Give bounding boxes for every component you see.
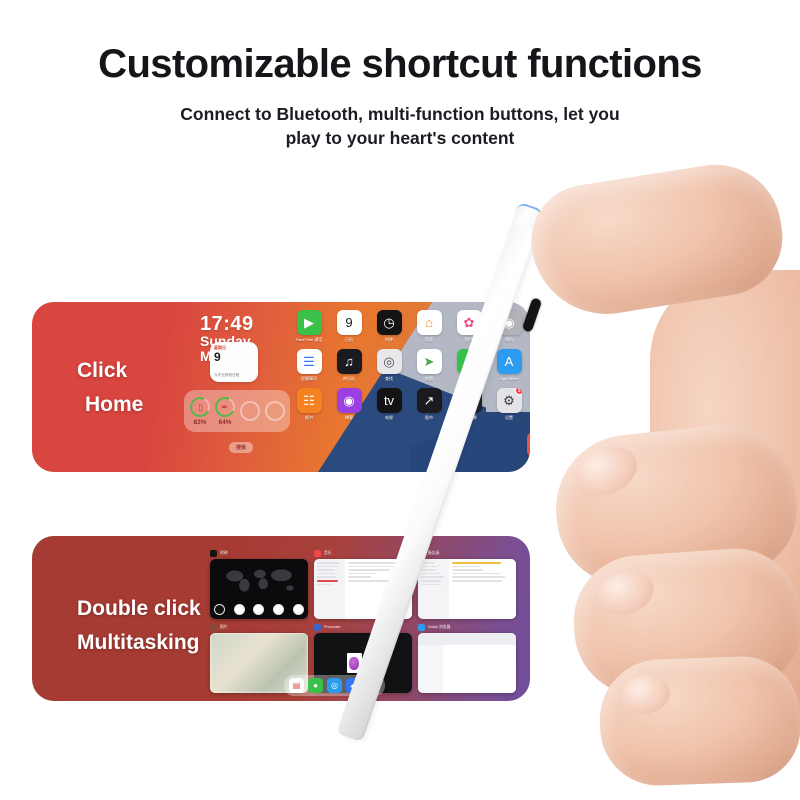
ipad-battery-percent: 83%	[190, 419, 210, 426]
app-icon-reminders[interactable]: ☰提醒事项	[290, 349, 328, 382]
calendar-icon: 9	[337, 310, 362, 335]
app-icon-clock[interactable]: ◷时钟	[370, 310, 408, 343]
dock-calendar-icon[interactable]: ▤	[289, 678, 304, 693]
empty-slot-2-ring-icon	[265, 401, 285, 421]
panel-one-label-line-1: Click	[77, 354, 143, 388]
app-icon-garageband[interactable]: ♫库乐队	[330, 349, 368, 382]
app-icon-books[interactable]: ☷图书	[290, 388, 328, 421]
calendar-label: 日历	[345, 337, 353, 343]
home-label: 家庭	[425, 337, 433, 343]
card-photos-title: 照片	[220, 625, 228, 630]
podcasts-label: 播客	[345, 415, 353, 421]
stocks-icon: ↗	[417, 388, 442, 413]
panel-two-label-line-1: Double click	[77, 592, 201, 626]
panel-two-label-line-2: Multitasking	[77, 626, 201, 660]
maps-label: 地图	[425, 376, 433, 382]
card-world-clock[interactable]: 时钟	[210, 550, 308, 619]
card-notes-title: 备忘录	[428, 551, 439, 556]
calendar-day: 9	[214, 351, 254, 363]
card-procreate-app-icon	[314, 624, 321, 631]
card-photos-header: 照片	[210, 624, 308, 631]
panel-one-label: Click Home	[77, 354, 143, 422]
card-music-title: 音乐	[324, 551, 332, 556]
apple-tv-icon: tv	[377, 388, 402, 413]
reminders-label: 提醒事项	[301, 376, 317, 382]
battery-cell-pencil-battery: ✒64%	[215, 397, 235, 426]
world-clock-preview	[210, 559, 308, 619]
apple-tv-label: 电视	[385, 415, 393, 421]
calendar-note: 今天无其他日程	[214, 373, 254, 378]
empty-slot-1-ring-icon	[240, 401, 260, 421]
app-icon-apple-tv[interactable]: tv电视	[370, 388, 408, 421]
facetime-label: FaceTime 通话	[296, 337, 323, 343]
dock-messages-icon[interactable]: ●	[308, 678, 323, 693]
calendar-widget[interactable]: 星期日 9 今天无其他日程	[210, 342, 258, 382]
pinky-finger	[598, 655, 800, 788]
app-icon-calendar[interactable]: 9日历	[330, 310, 368, 343]
ipad-battery-ring-icon: ▯	[187, 394, 212, 419]
podcasts-icon: ◉	[337, 388, 362, 413]
app-icon-maps[interactable]: ➤地图	[410, 349, 448, 382]
usb-c-port-icon	[522, 297, 543, 332]
app-icon-facetime[interactable]: ▶FaceTime 通话	[290, 310, 328, 343]
card-safari-title: Safari 浏览器	[428, 625, 450, 630]
pencil-battery-ring-icon: ✒	[212, 394, 237, 419]
page-subtitle: Connect to Bluetooth, multi-function but…	[0, 102, 800, 150]
card-music-app-icon	[314, 550, 321, 557]
hand-holding-stylus	[500, 180, 800, 800]
card-procreate-title: Procreate	[324, 625, 340, 630]
subtitle-line-2: play to your heart's content	[0, 126, 800, 150]
app-icon-sketchbook[interactable]: ✎SketchBook	[290, 432, 530, 464]
app-icon-podcasts[interactable]: ◉播客	[330, 388, 368, 421]
clock-label: 时钟	[385, 337, 393, 343]
garageband-icon: ♫	[337, 349, 362, 374]
home-icon: ⌂	[417, 310, 442, 335]
feature-panel-multitasking: 时钟音乐备忘录照片ProcreateSafari 浏览器 ▤●◎▰⌘ Doubl…	[32, 536, 530, 701]
card-world-clock-title: 时钟	[220, 551, 228, 556]
subtitle-line-1: Connect to Bluetooth, multi-function but…	[0, 102, 800, 126]
search-pill[interactable]: 搜索	[229, 442, 253, 453]
reminders-icon: ☰	[297, 349, 322, 374]
maps-icon: ➤	[417, 349, 442, 374]
panel-two-label: Double click Multitasking	[77, 592, 201, 660]
pencil-battery-percent: 64%	[215, 419, 235, 426]
find-my-icon: ◎	[377, 349, 402, 374]
garageband-label: 库乐队	[343, 376, 355, 382]
batteries-widget[interactable]: ▯83%✒64%	[184, 390, 290, 432]
card-world-clock-header: 时钟	[210, 550, 308, 557]
app-icon-find-my[interactable]: ◎查找	[370, 349, 408, 382]
app-icon-home[interactable]: ⌂家庭	[410, 310, 448, 343]
clock-time: 17:49	[200, 314, 254, 334]
product-marketing-image: Customizable shortcut functions Connect …	[0, 0, 800, 800]
battery-cell-ipad-battery: ▯83%	[190, 397, 210, 426]
battery-cell-empty-slot-1	[240, 401, 260, 421]
facetime-icon: ▶	[297, 310, 322, 335]
stocks-label: 股市	[425, 415, 433, 421]
app-icon-stocks[interactable]: ↗股市	[410, 388, 448, 421]
books-icon: ☷	[297, 388, 322, 413]
find-my-label: 查找	[385, 376, 393, 382]
card-world-clock-app-icon	[210, 550, 217, 557]
battery-cell-empty-slot-2	[265, 401, 285, 421]
card-photos-app-icon	[210, 624, 217, 631]
panel-one-label-line-2: Home	[85, 388, 143, 422]
books-label: 图书	[305, 415, 313, 421]
card-world-clock-thumbnail[interactable]	[210, 559, 308, 619]
clock-icon: ◷	[377, 310, 402, 335]
dock-safari-icon[interactable]: ◎	[327, 678, 342, 693]
page-title: Customizable shortcut functions	[0, 42, 800, 87]
card-safari-app-icon	[418, 624, 425, 631]
